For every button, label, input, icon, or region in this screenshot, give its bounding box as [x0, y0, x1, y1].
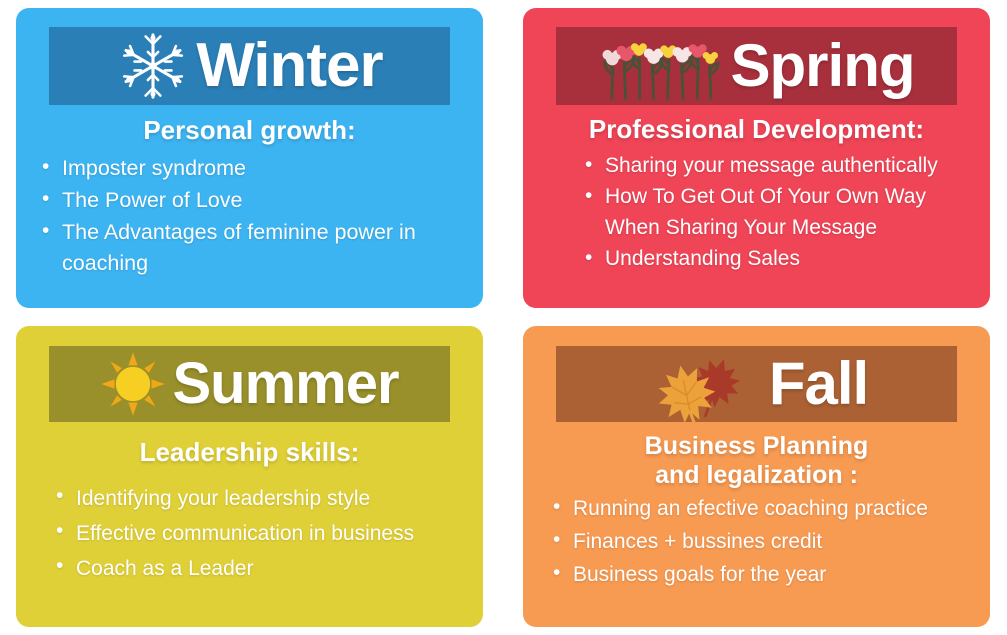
card-fall[interactable]: Fall Business Planning and legalization … — [523, 326, 990, 627]
list-item: How To Get Out Of Your Own Way When Shar… — [581, 182, 974, 243]
list-item: The Power of Love — [38, 185, 461, 216]
banner-spring: Spring — [556, 27, 957, 105]
season-title-summer: Summer — [172, 355, 398, 413]
subtitle-fall-line1: Business Planning — [533, 432, 980, 461]
sun-icon — [100, 351, 166, 417]
cell-fall: Fall Business Planning and legalization … — [503, 317, 1007, 635]
card-spring[interactable]: Spring Professional Development: Sharing… — [523, 8, 990, 308]
cell-spring: Spring Professional Development: Sharing… — [503, 0, 1007, 317]
cell-summer: Summer Leadership skills: Identifying yo… — [0, 317, 503, 635]
subtitle-winter: Personal growth: — [26, 116, 473, 146]
list-item: Identifying your leadership style — [52, 482, 467, 516]
bullet-list-spring: Sharing your message authentically How T… — [581, 151, 974, 275]
banner-fall: Fall — [556, 346, 957, 422]
list-item: The Advantages of feminine power in coac… — [38, 217, 461, 279]
bullet-list-fall: Running an efective coaching practice Fi… — [549, 493, 980, 591]
card-winter[interactable]: Winter Personal growth: Imposter syndrom… — [16, 8, 483, 308]
season-title-fall: Fall — [769, 354, 868, 414]
list-item: Business goals for the year — [549, 559, 980, 591]
bullet-list-summer: Identifying your leadership style Effect… — [52, 482, 467, 586]
subtitle-fall-line2: and legalization : — [533, 461, 980, 490]
list-item: Effective communication in business — [52, 517, 467, 551]
list-item: Coach as a Leader — [52, 552, 467, 586]
subtitle-summer: Leadership skills: — [26, 438, 473, 468]
flowers-icon — [599, 30, 725, 102]
subtitle-spring: Professional Development: — [533, 115, 980, 145]
list-item: Running an efective coaching practice — [549, 493, 980, 525]
banner-winter: Winter — [49, 27, 450, 105]
card-summer[interactable]: Summer Leadership skills: Identifying yo… — [16, 326, 483, 627]
list-item: Finances + bussines credit — [549, 526, 980, 558]
maple-leaves-icon — [645, 346, 763, 422]
list-item: Imposter syndrome — [38, 153, 461, 184]
bullet-list-winter: Imposter syndrome The Power of Love The … — [38, 153, 461, 280]
seasons-grid: Winter Personal growth: Imposter syndrom… — [0, 0, 1007, 635]
snowflake-icon — [116, 29, 190, 103]
season-title-spring: Spring — [731, 36, 915, 96]
season-title-winter: Winter — [196, 35, 382, 97]
banner-summer: Summer — [49, 346, 450, 422]
list-item: Understanding Sales — [581, 244, 974, 274]
seasons-infographic: · · · — [0, 0, 1007, 635]
list-item: Sharing your message authentically — [581, 151, 974, 181]
cell-winter: Winter Personal growth: Imposter syndrom… — [0, 0, 503, 317]
subtitle-fall: Business Planning and legalization : — [533, 432, 980, 489]
